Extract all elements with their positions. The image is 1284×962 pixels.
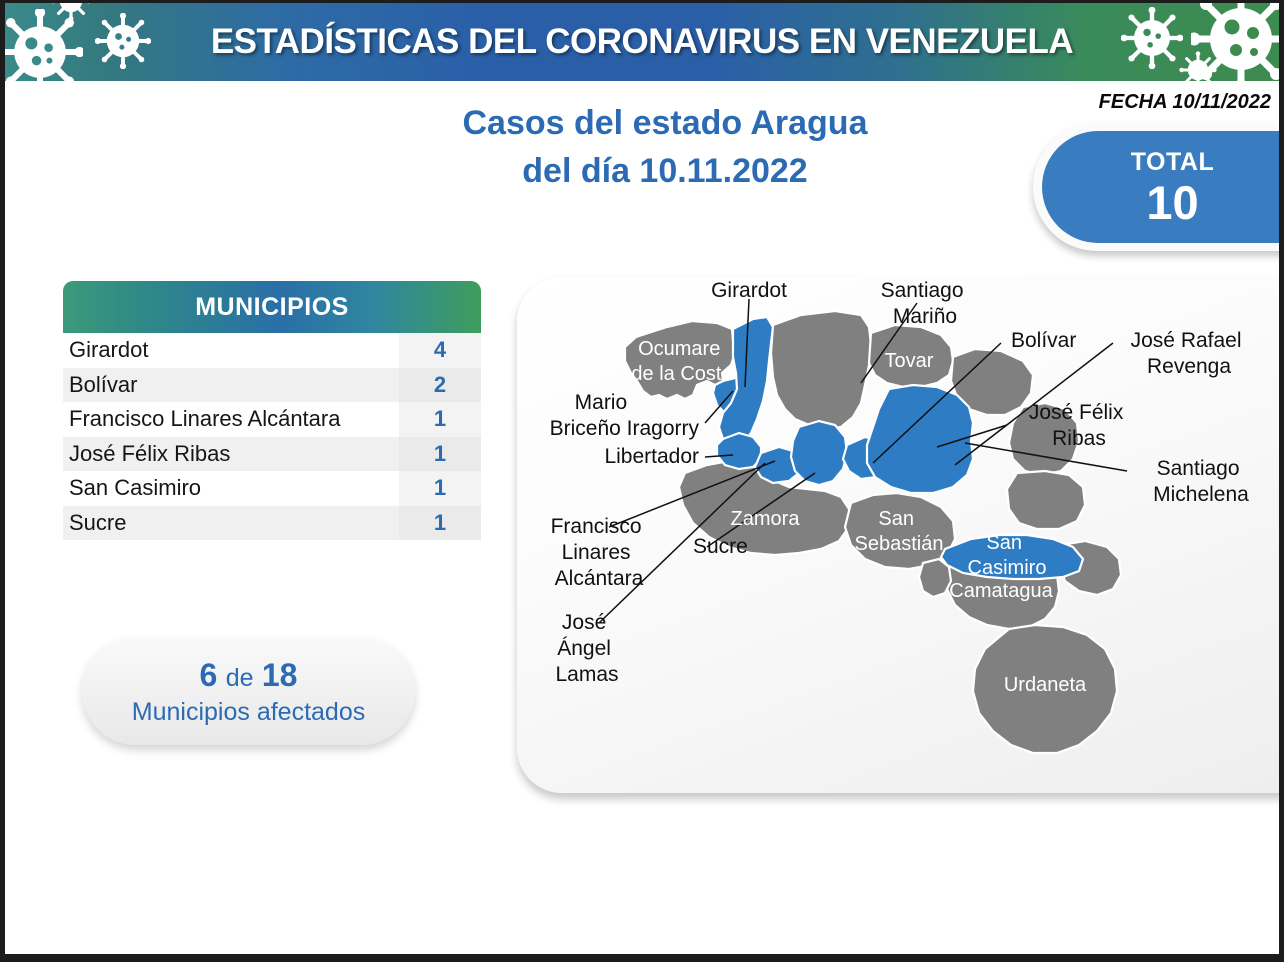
- banner-title: ESTADÍSTICAS DEL CORONAVIRUS EN VENEZUEL…: [5, 3, 1279, 81]
- table-row: San Casimiro 1: [63, 471, 481, 506]
- total-badge: TOTAL 10: [1033, 123, 1279, 251]
- map-label-camatagua: Camatagua: [949, 580, 1053, 602]
- map-label-zamora: Zamora: [731, 508, 801, 530]
- table-cell-name: Francisco Linares Alcántara: [63, 402, 399, 437]
- table-row: Francisco Linares Alcántara 1: [63, 402, 481, 437]
- page-title: Casos del estado Aragua del día 10.11.20…: [305, 99, 1025, 196]
- table-cell-name: Girardot: [63, 333, 399, 368]
- table-cell-value: 4: [399, 333, 481, 368]
- map-region-libertador: [717, 433, 761, 469]
- municipios-table: MUNICIPIOS Girardot 4 Bolívar 2 Francisc…: [63, 281, 481, 540]
- map-label-santiago-michelena: Santiago Michelena: [1153, 457, 1249, 506]
- map-card: Girardot Santiago Mariño Bolívar José Ra…: [517, 277, 1279, 793]
- map-region-santiago-marino: [771, 311, 871, 429]
- affected-connector: de: [226, 664, 254, 692]
- map-region-east-band: [1007, 471, 1085, 529]
- affected-count: 6: [200, 657, 218, 693]
- map-region-san-sebastian: [845, 493, 955, 569]
- infographic-frame: ESTADÍSTICAS DEL CORONAVIRUS EN VENEZUEL…: [5, 3, 1279, 954]
- map-label-jose-rafael-revenga: José Rafael Revenga: [1131, 329, 1248, 378]
- table-cell-name: Bolívar: [63, 368, 399, 403]
- table-cell-value: 1: [399, 402, 481, 437]
- table-cell-name: José Félix Ribas: [63, 437, 399, 472]
- affected-total: 18: [262, 657, 298, 693]
- table-cell-value: 1: [399, 437, 481, 472]
- map-label-sucre: Sucre: [693, 535, 748, 558]
- date-badge: FECHA 10/11/2022: [1099, 91, 1271, 114]
- table-cell-value: 1: [399, 471, 481, 506]
- affected-caption: Municipios afectados: [132, 698, 365, 727]
- map-label-mario-briceno: Mario Briceño Iragorry: [550, 391, 700, 440]
- total-value: 10: [1146, 179, 1198, 226]
- table-row: Girardot 4: [63, 333, 481, 368]
- table-cell-name: San Casimiro: [63, 471, 399, 506]
- map-label-francisco-linares: Francisco Linares Alcántara: [551, 515, 648, 590]
- header-banner: ESTADÍSTICAS DEL CORONAVIRUS EN VENEZUEL…: [5, 3, 1279, 81]
- total-label: TOTAL: [1131, 148, 1215, 177]
- map-region-jose-felix-ribas: [867, 385, 973, 493]
- map-label-girardot: Girardot: [711, 279, 787, 302]
- map-region-sucre: [791, 421, 847, 485]
- aragua-map: Girardot Santiago Mariño Bolívar José Ra…: [517, 277, 1279, 793]
- map-label-bolivar: Bolívar: [1011, 329, 1076, 352]
- table-row: José Félix Ribas 1: [63, 437, 481, 472]
- map-label-urdaneta: Urdaneta: [1004, 674, 1087, 696]
- affected-summary: 6 de 18 Municipios afectados: [82, 637, 415, 745]
- page-title-line2: del día 10.11.2022: [305, 147, 1025, 195]
- table-cell-value: 1: [399, 506, 481, 541]
- table-row: Sucre 1: [63, 506, 481, 541]
- map-label-tovar: Tovar: [885, 350, 934, 372]
- map-label-libertador: Libertador: [604, 445, 699, 468]
- table-cell-value: 2: [399, 368, 481, 403]
- table-header: MUNICIPIOS: [63, 281, 481, 333]
- map-label-jose-angel-lamas: José Ángel Lamas: [555, 611, 618, 686]
- map-label-santiago-marino: Santiago Mariño: [881, 279, 970, 328]
- total-badge-body: TOTAL 10: [1042, 131, 1279, 243]
- page-title-line1: Casos del estado Aragua: [305, 99, 1025, 147]
- affected-count-line: 6 de 18: [200, 656, 298, 695]
- table-row: Bolívar 2: [63, 368, 481, 403]
- table-cell-name: Sucre: [63, 506, 399, 541]
